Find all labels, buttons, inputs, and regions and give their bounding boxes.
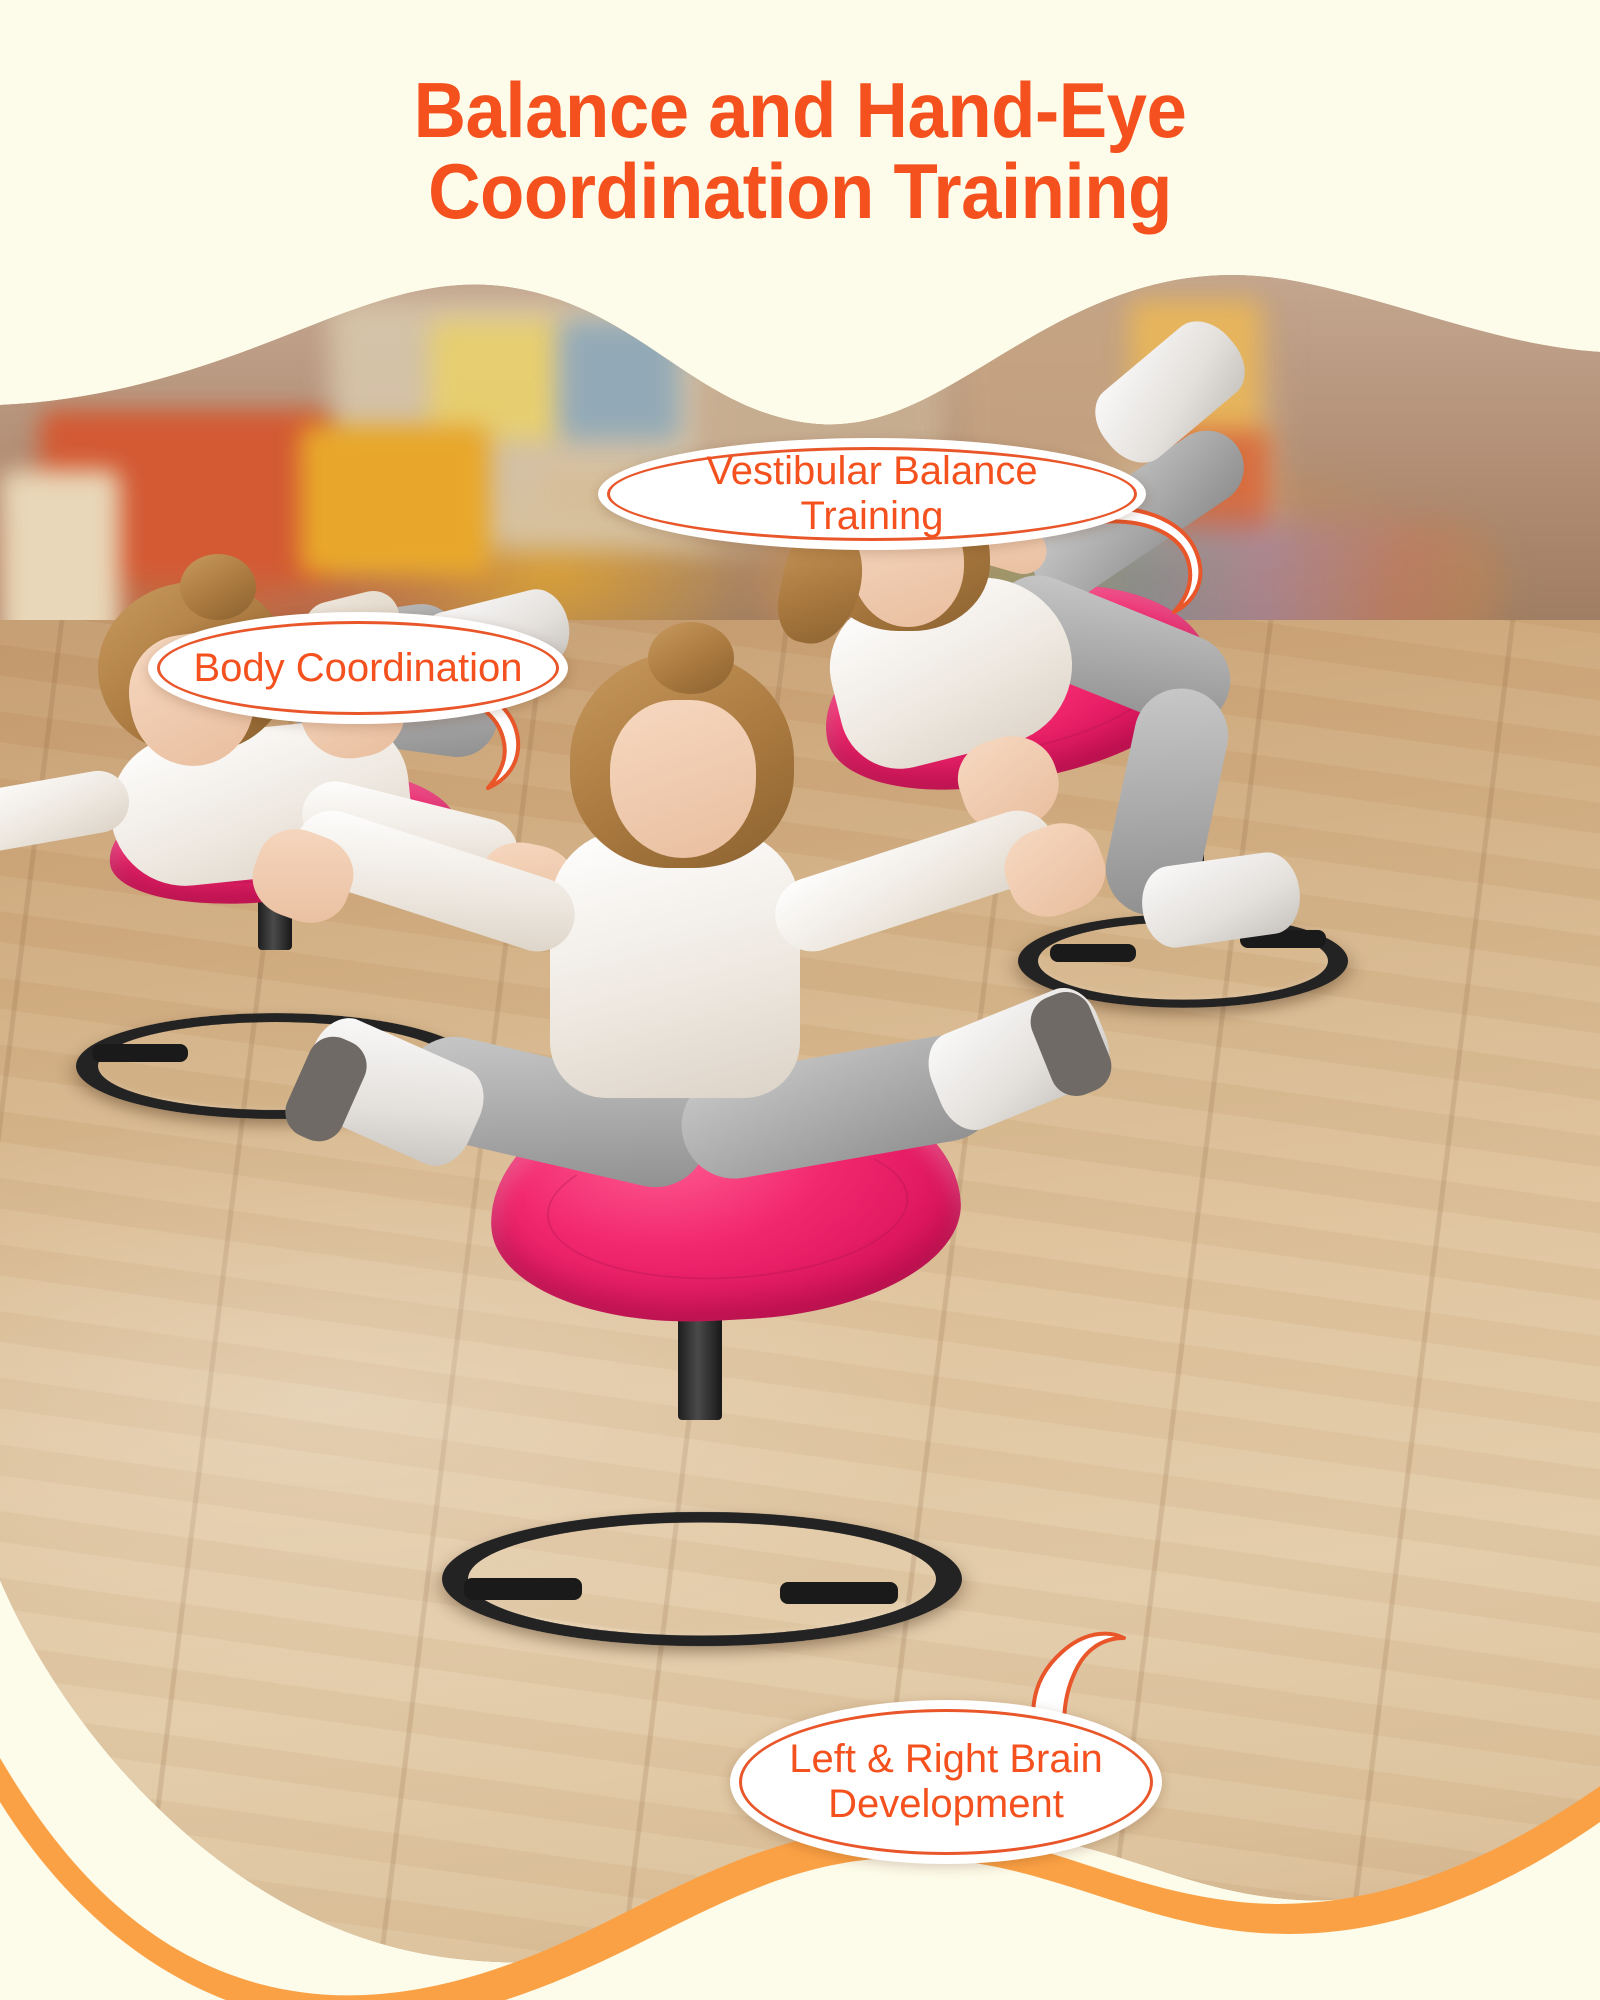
spinner-foot [464, 1578, 582, 1600]
feature-bubble-vestibular-balance-training[interactable]: Vestibular Balance Training [598, 438, 1146, 550]
child-center-ponytail [648, 622, 734, 694]
storage-bin [430, 320, 560, 440]
foam-cube [300, 425, 490, 575]
child-center [250, 640, 1120, 1420]
feature-bubble-brain-development[interactable]: Left & Right Brain Development [730, 1700, 1162, 1864]
child-left-ponytail [180, 554, 256, 620]
page-title: Balance and Hand-Eye Coordination Traini… [0, 70, 1600, 232]
child-left-arm-back [0, 766, 134, 860]
bubble-label: Body Coordination [159, 646, 556, 691]
spinner-foot [92, 1044, 188, 1062]
spinner-foot [780, 1582, 898, 1604]
product-lifestyle-photo [0, 0, 1600, 1985]
headline-line-2: Coordination Training [56, 151, 1544, 232]
feature-bubble-body-coordination[interactable]: Body Coordination [148, 612, 568, 724]
child-center-torso [550, 830, 800, 1098]
child-center-face [610, 700, 756, 858]
bubble-label: Left & Right Brain Development [755, 1737, 1137, 1827]
headline-line-1: Balance and Hand-Eye [56, 70, 1544, 151]
storage-bin [560, 320, 680, 440]
bubble-label: Vestibular Balance Training [598, 449, 1146, 539]
